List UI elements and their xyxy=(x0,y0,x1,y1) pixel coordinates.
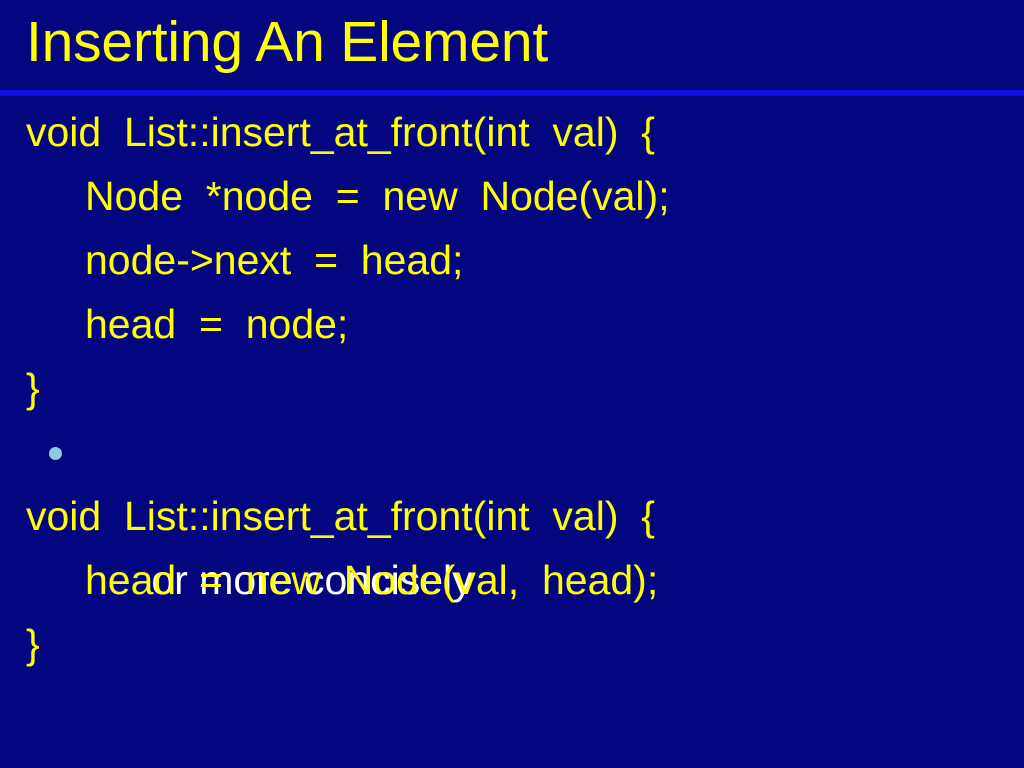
code-line: void List::insert_at_front(int val) { xyxy=(0,484,1024,548)
code-line: head = new Node(val, head); xyxy=(0,548,1024,612)
slide-canvas: Inserting An Element void List::insert_a… xyxy=(0,0,1024,768)
code-line: } xyxy=(0,612,1024,676)
code-line: node->next = head; xyxy=(0,228,1024,292)
slide-title-area: Inserting An Element xyxy=(0,0,1024,92)
code-block-first: void List::insert_at_front(int val) { No… xyxy=(0,100,1024,420)
code-line: } xyxy=(0,356,1024,420)
bullet-list-item: or more concisely xyxy=(0,420,1024,484)
title-divider-rule xyxy=(0,90,1024,96)
code-line: Node *node = new Node(val); xyxy=(0,164,1024,228)
slide-body: void List::insert_at_front(int val) { No… xyxy=(0,100,1024,768)
bullet-dot-icon xyxy=(49,447,62,460)
code-line: void List::insert_at_front(int val) { xyxy=(0,100,1024,164)
code-block-second: void List::insert_at_front(int val) { he… xyxy=(0,484,1024,676)
code-line: head = node; xyxy=(0,292,1024,356)
page-title: Inserting An Element xyxy=(26,6,548,78)
